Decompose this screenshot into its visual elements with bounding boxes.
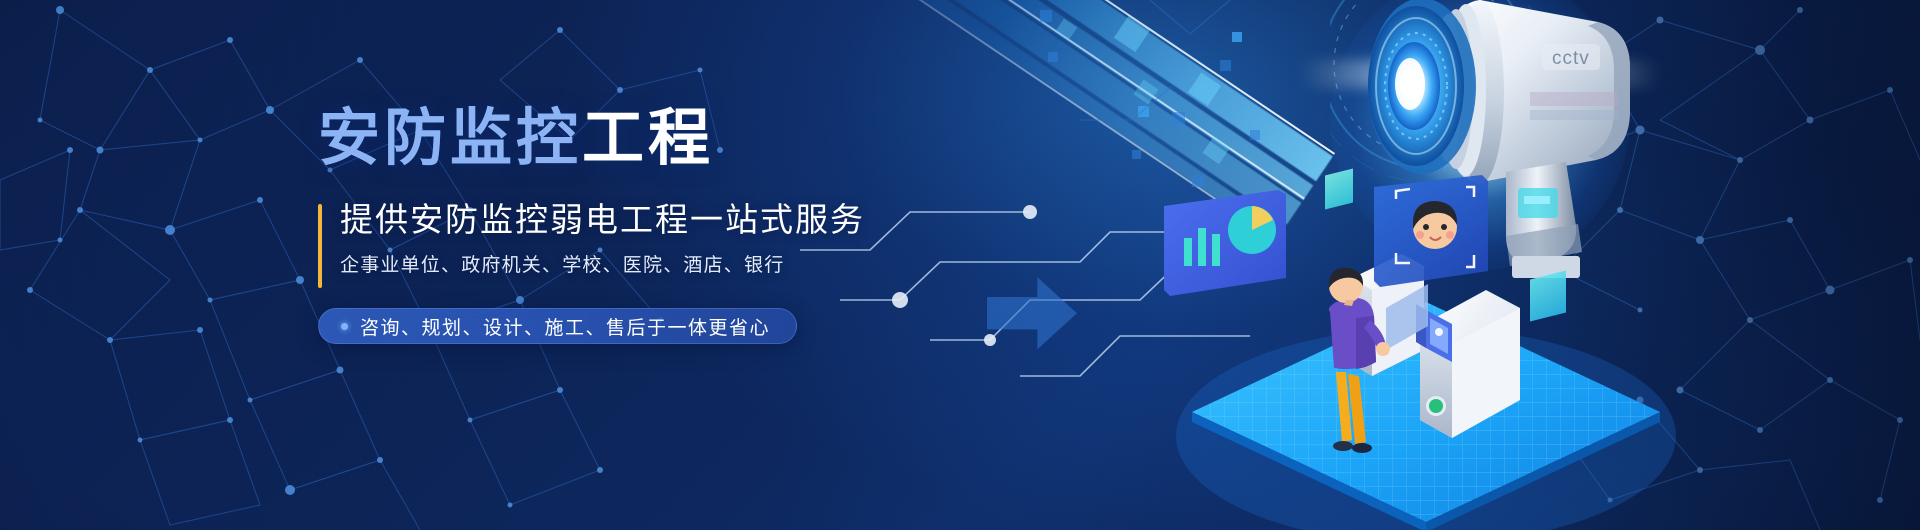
bullet-dot-icon [341,323,348,330]
subtitle-secondary: 企事业单位、政府机关、学校、医院、酒店、银行 [340,250,1078,277]
subtitle-main: 提供安防监控弱电工程一站式服务 [340,200,1078,240]
subtitle-block: 提供安防监控弱电工程一站式服务 企事业单位、政府机关、学校、医院、酒店、银行 [318,200,1078,277]
security-surveillance-banner: cctv [0,0,1920,530]
copy-block: 安防监控工程 提供安防监控弱电工程一站式服务 企事业单位、政府机关、学校、医院、… [318,108,1078,277]
service-pill-badge[interactable]: 咨询、规划、设计、施工、售后于一体更省心 [318,308,797,344]
face-recognition-panel [1370,175,1490,293]
avatar-face [1413,201,1457,249]
headline-plain: 工程 [582,104,714,173]
analytics-card [1160,190,1290,300]
headline-highlight: 安防监控 [318,104,582,173]
camera-lens [1368,0,1476,174]
page-title: 安防监控工程 [318,108,1078,170]
floating-chip-right [1530,271,1566,322]
svg-text:cctv: cctv [1552,48,1590,69]
accent-bar [318,204,322,288]
floating-chip-left [1325,169,1353,210]
pie-chart-icon [1228,206,1276,254]
service-pill-text: 咨询、规划、设计、施工、售后于一体更省心 [360,313,770,340]
